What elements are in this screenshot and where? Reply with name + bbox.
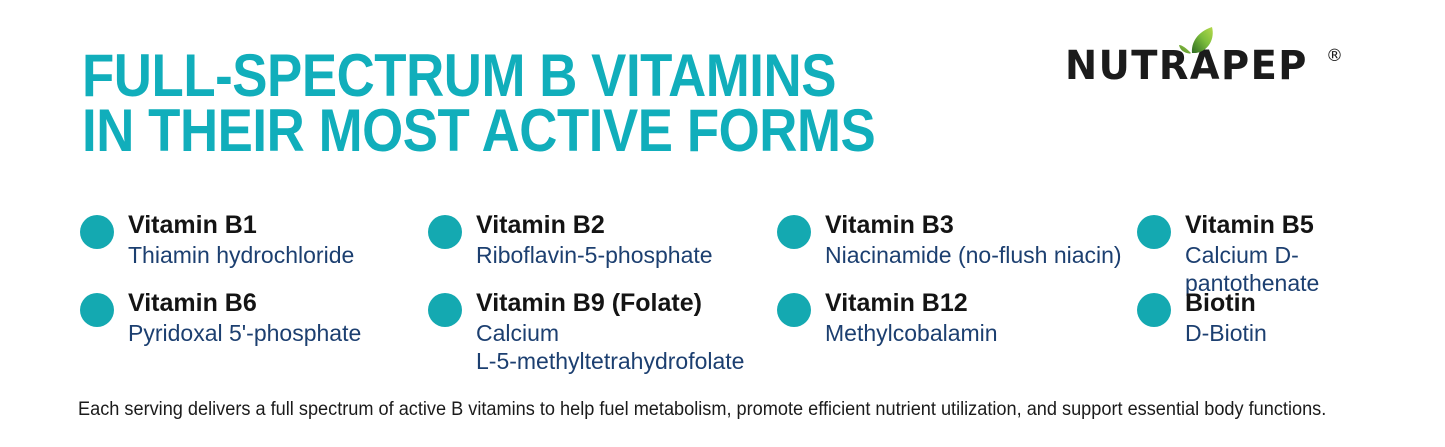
bullet-dot-icon (80, 293, 114, 327)
page-title: FULL-SPECTRUM B VITAMINS IN THEIR MOST A… (82, 48, 875, 158)
list-item: Vitamin B3 Niacinamide (no-flush niacin) (777, 212, 1137, 269)
footer-note: Each serving delivers a full spectrum of… (78, 398, 1326, 422)
bullet-dot-icon (1137, 215, 1171, 249)
vitamin-subtitle: Methylcobalamin (825, 319, 998, 347)
headline-line-1: FULL-SPECTRUM B VITAMINS (82, 48, 875, 103)
bullet-dot-icon (777, 293, 811, 327)
vitamin-name: Vitamin B1 (128, 212, 354, 239)
vitamin-row: Vitamin B6 Pyridoxal 5'-phosphate Vitami… (80, 290, 1435, 375)
vitamin-name: Vitamin B2 (476, 212, 713, 239)
vitamin-name: Biotin (1185, 290, 1267, 317)
vitamin-name: Vitamin B3 (825, 212, 1122, 239)
bullet-dot-icon (428, 293, 462, 327)
registered-trademark-symbol: ® (1326, 48, 1343, 65)
headline-line-2: IN THEIR MOST ACTIVE FORMS (82, 103, 875, 158)
list-item: Vitamin B6 Pyridoxal 5'-phosphate (80, 290, 428, 347)
vitamin-subtitle: Calcium L-5-methyltetrahydrofolate (476, 319, 744, 375)
vitamin-subtitle: D-Biotin (1185, 319, 1267, 347)
list-item: Vitamin B2 Riboflavin-5-phosphate (428, 212, 777, 269)
list-item: Biotin D-Biotin (1137, 290, 1427, 347)
brand-logo: NUTRAPEP ® (1065, 46, 1343, 86)
list-item: Vitamin B1 Thiamin hydrochloride (80, 212, 428, 269)
vitamin-subtitle: Riboflavin-5-phosphate (476, 241, 713, 269)
bullet-dot-icon (1137, 293, 1171, 327)
bullet-dot-icon (80, 215, 114, 249)
vitamin-subtitle: Pyridoxal 5'-phosphate (128, 319, 361, 347)
vitamin-name: Vitamin B6 (128, 290, 361, 317)
list-item: Vitamin B5 Calcium D-pantothenate (1137, 212, 1427, 297)
vitamin-name: Vitamin B12 (825, 290, 998, 317)
logo-wordmark-text: NUTRAPEP (1065, 46, 1308, 86)
vitamin-list: Vitamin B1 Thiamin hydrochloride Vitamin… (80, 212, 1435, 375)
vitamin-row: Vitamin B1 Thiamin hydrochloride Vitamin… (80, 212, 1435, 290)
vitamin-name: Vitamin B5 (1185, 212, 1427, 239)
product-benefits-banner: FULL-SPECTRUM B VITAMINS IN THEIR MOST A… (0, 0, 1445, 447)
vitamin-subtitle: Niacinamide (no-flush niacin) (825, 241, 1122, 269)
list-item: Vitamin B9 (Folate) Calcium L-5-methylte… (428, 290, 777, 375)
vitamin-name: Vitamin B9 (Folate) (476, 290, 744, 317)
bullet-dot-icon (428, 215, 462, 249)
list-item: Vitamin B12 Methylcobalamin (777, 290, 1137, 347)
bullet-dot-icon (777, 215, 811, 249)
vitamin-subtitle: Thiamin hydrochloride (128, 241, 354, 269)
